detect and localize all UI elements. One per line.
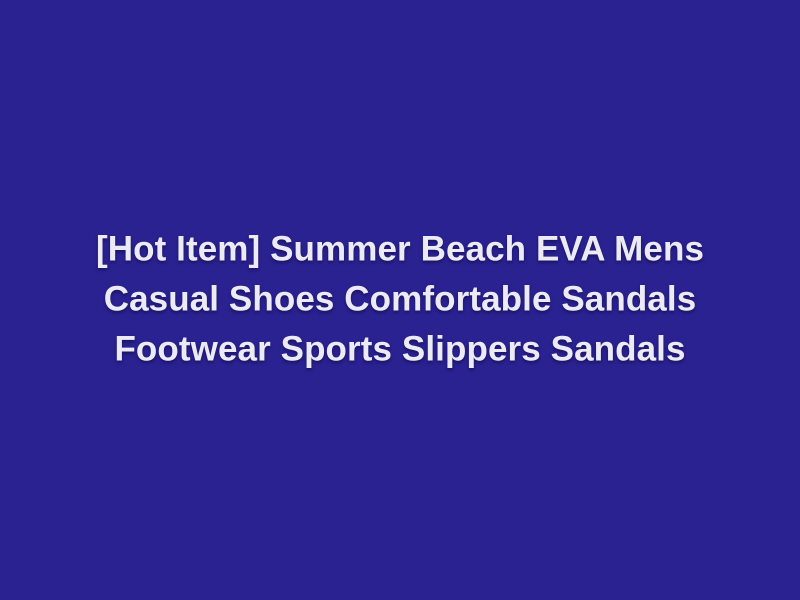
product-title: [Hot Item] Summer Beach EVA Mens Casual …	[20, 225, 780, 375]
product-title-card: [Hot Item] Summer Beach EVA Mens Casual …	[0, 0, 800, 600]
product-title-line-1: [Hot Item] Summer Beach EVA Mens	[20, 225, 780, 275]
product-title-line-3: Footwear Sports Slippers Sandals	[20, 325, 780, 375]
product-title-line-2: Casual Shoes Comfortable Sandals	[20, 275, 780, 325]
